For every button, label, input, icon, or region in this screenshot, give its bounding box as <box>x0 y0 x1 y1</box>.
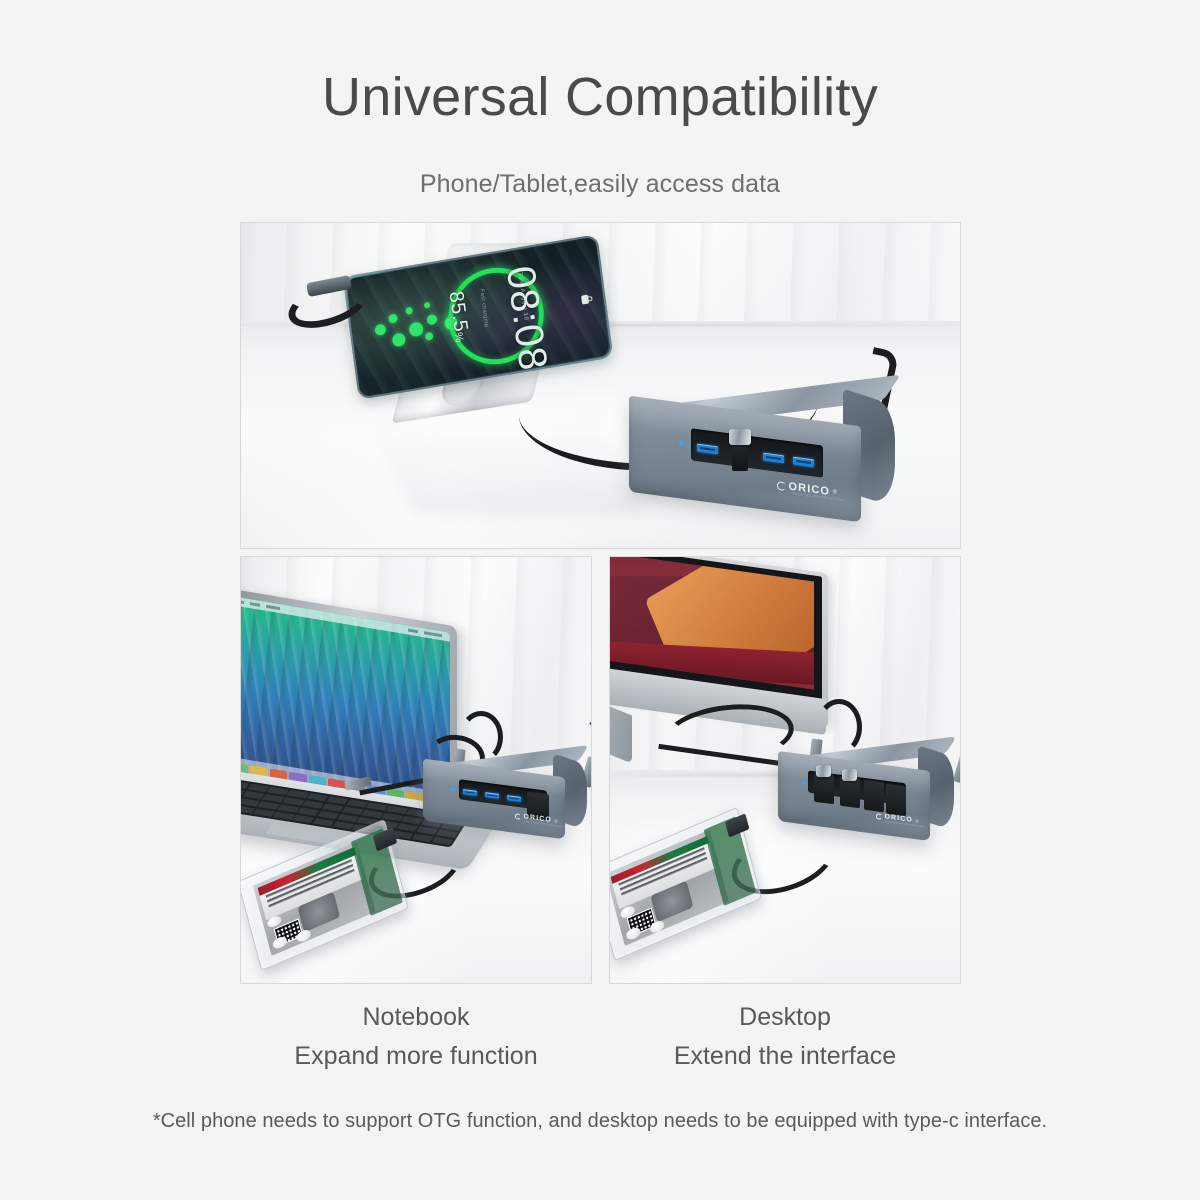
desktop-caption-line1: Desktop <box>609 998 961 1037</box>
notebook-caption-line1: Notebook <box>240 998 592 1037</box>
hub-connector-neck <box>732 441 748 471</box>
usb-plug-in-port-3 <box>864 780 884 813</box>
usb-plug-1-metal-tip <box>816 765 831 777</box>
desktop-caption-line2: Extend the interface <box>609 1037 961 1076</box>
hdd-screw-pad <box>272 935 288 950</box>
product-feature-page: Universal Compatibility Phone/Tablet,eas… <box>0 0 1200 1200</box>
notebook-photo: ORICO ® TRUSTED PROFESSIONAL <box>240 556 592 984</box>
page-title: Universal Compatibility <box>0 68 1200 127</box>
notebook-scene: ORICO ® TRUSTED PROFESSIONAL <box>241 557 591 983</box>
power-led-indicator <box>679 441 683 445</box>
registered-trademark-symbol: ® <box>915 818 919 824</box>
footnote-disclaimer: *Cell phone needs to support OTG functio… <box>0 1110 1200 1133</box>
orico-logo-mark <box>876 813 882 820</box>
desktop-scene: ORICO ® TRUSTED PROFESSIONAL <box>610 557 960 983</box>
hub-thumb-knob <box>729 429 751 445</box>
orico-logo-mark <box>777 480 786 490</box>
desktop-photo: ORICO ® TRUSTED PROFESSIONAL <box>609 556 961 984</box>
usb-plug-in-port-4 <box>886 784 906 817</box>
hdd-screw-pad <box>625 926 641 941</box>
page-subtitle: Phone/Tablet,easily access data <box>0 170 1200 199</box>
power-led-indicator <box>802 781 805 784</box>
hero-scene: 85.5% Fast charging 08:08 Tue, August 18 <box>241 223 960 548</box>
orico-usb-hub: ORICO ® TRUSTED PROFESSIONAL <box>423 755 589 851</box>
notebook-caption: Notebook Expand more function <box>240 998 592 1076</box>
hub-cable-loop-left <box>816 699 862 755</box>
registered-trademark-symbol: ® <box>833 489 839 496</box>
lock-icon <box>581 294 593 305</box>
registered-trademark-symbol: ® <box>554 818 558 824</box>
desktop-caption: Desktop Extend the interface <box>609 998 961 1076</box>
usb-plug-2-metal-tip <box>842 769 857 781</box>
hub-cable-loop-left <box>459 711 503 763</box>
orico-logo-mark <box>515 813 521 820</box>
notebook-caption-line2: Expand more function <box>240 1037 592 1076</box>
power-led-indicator <box>452 788 455 791</box>
orico-usb-hub: ORICO ® TRUSTED PROFESSIONAL <box>629 391 899 531</box>
hero-photo-phone-tablet: 85.5% Fast charging 08:08 Tue, August 18 <box>240 222 961 549</box>
